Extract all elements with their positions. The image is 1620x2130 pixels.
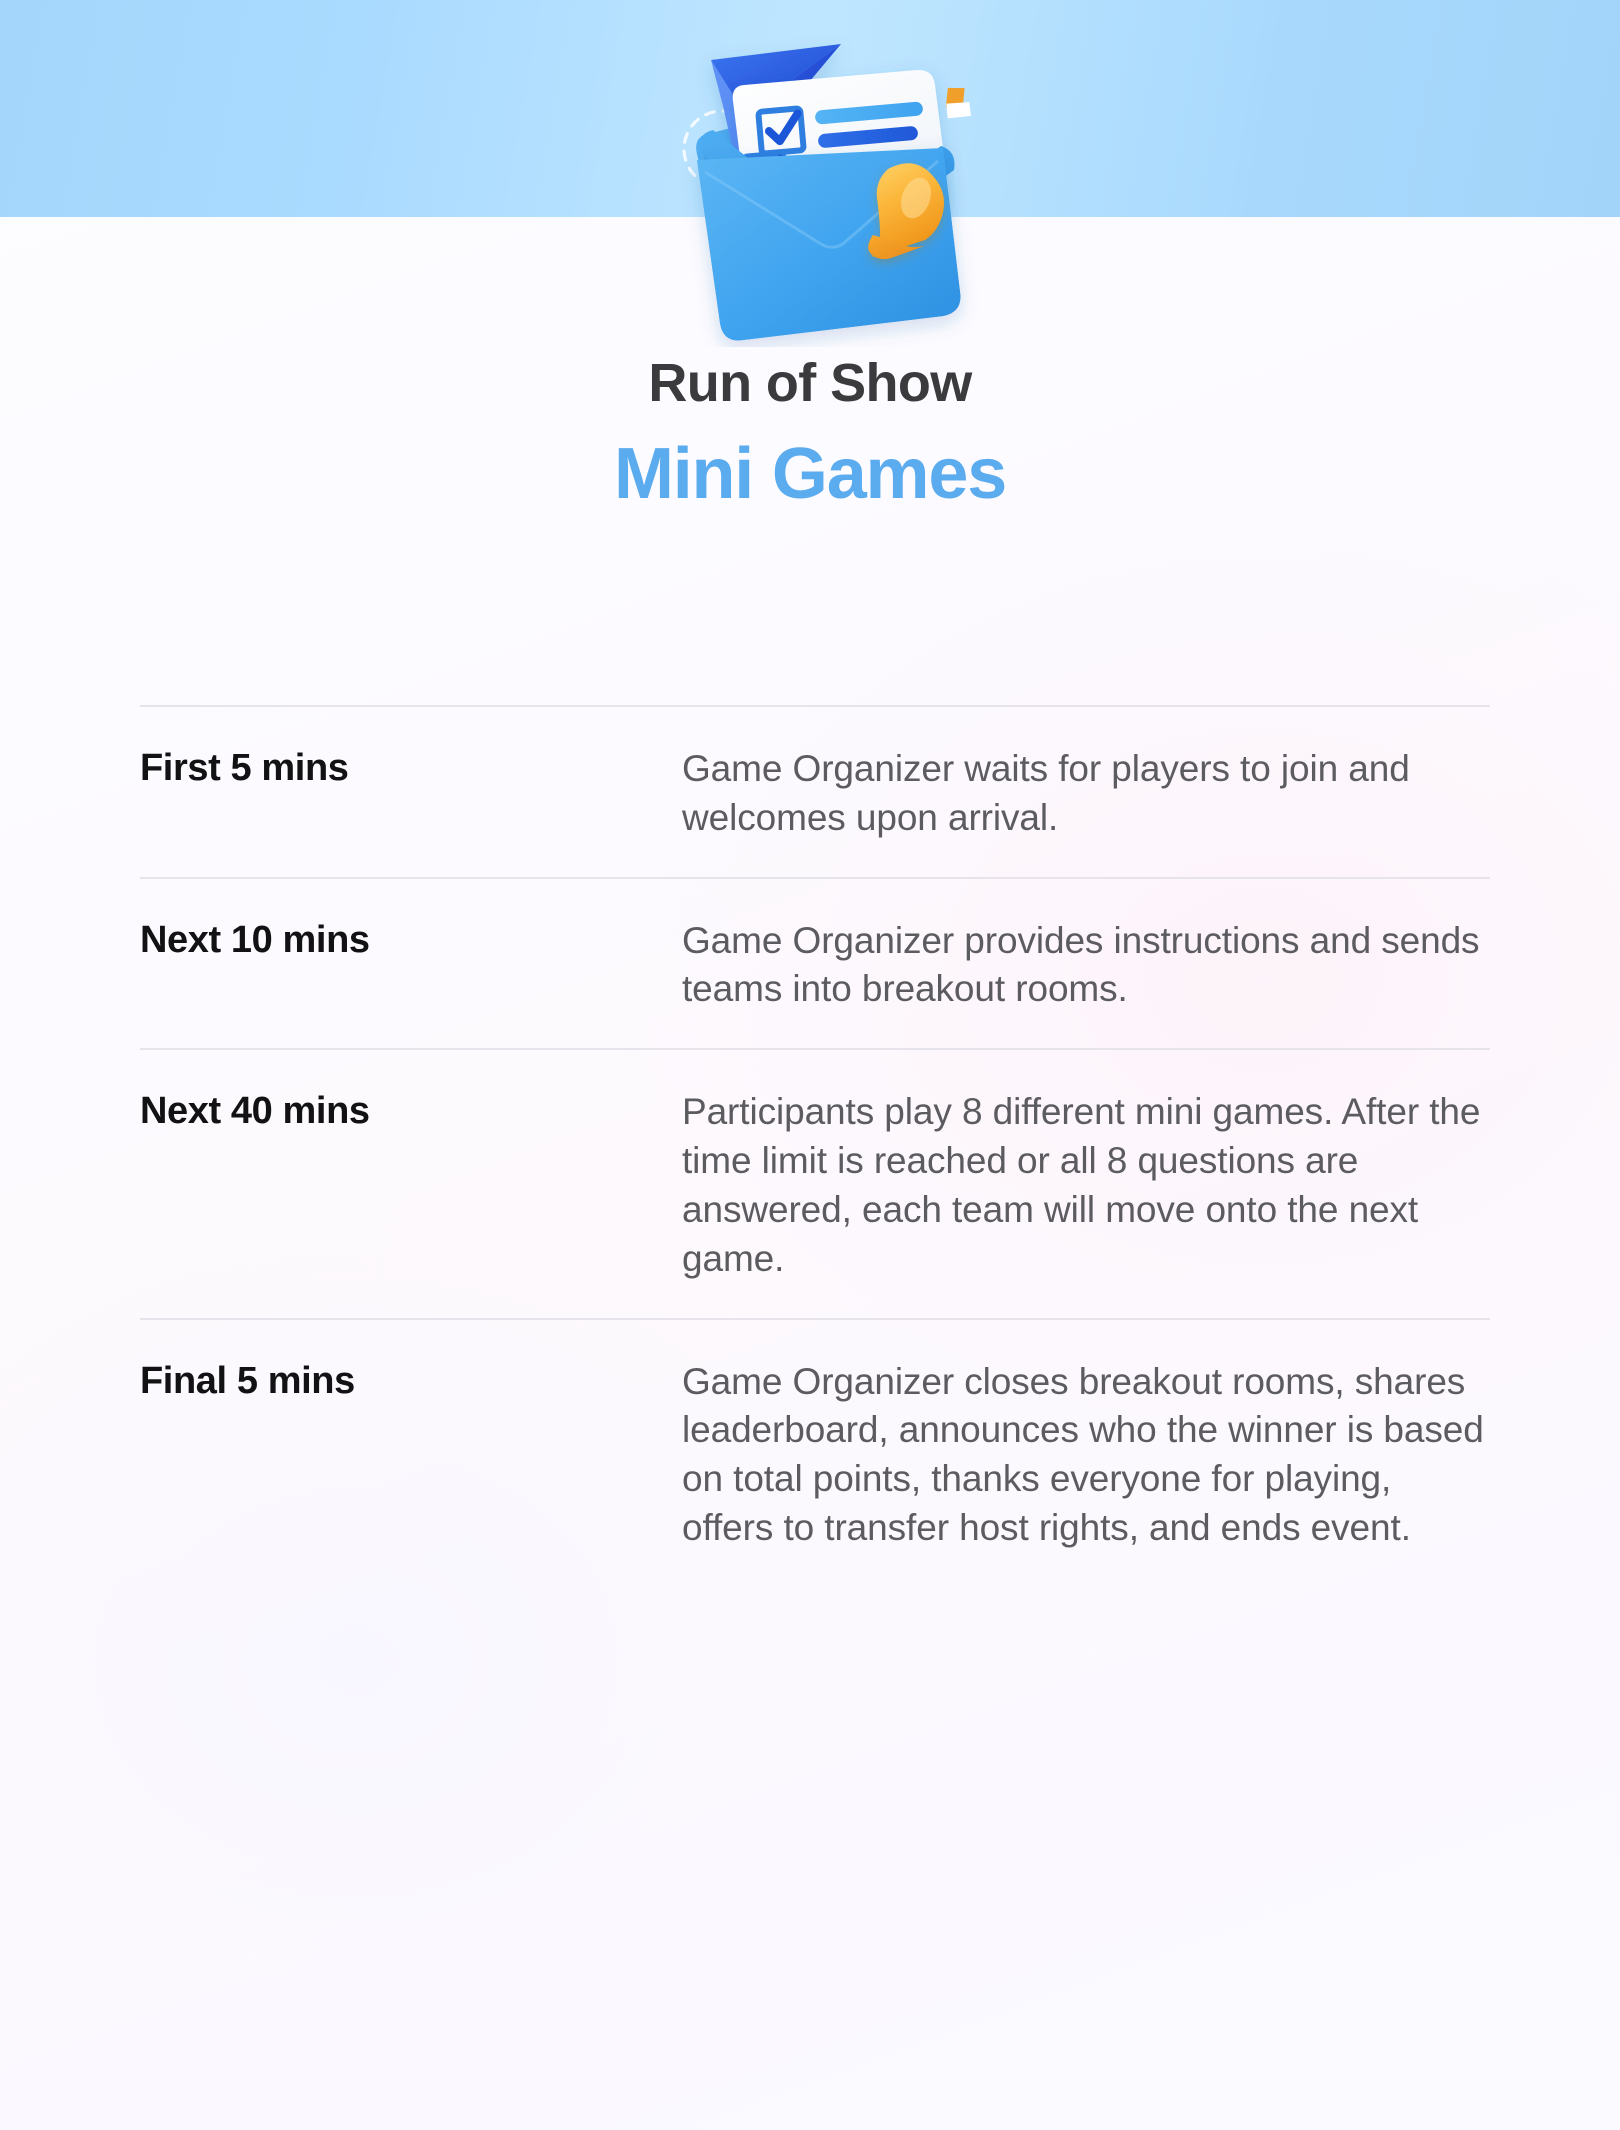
title-block: Run of Show Mini Games: [0, 355, 1620, 514]
schedule-row-label: Final 5 mins: [140, 1358, 682, 1553]
schedule-row-description: Game Organizer closes breakout rooms, sh…: [682, 1358, 1490, 1553]
schedule-row: Next 10 mins Game Organizer provides ins…: [140, 877, 1490, 1049]
schedule-row: First 5 mins Game Organizer waits for pl…: [140, 705, 1490, 877]
envelope-checklist-icon: [645, 22, 990, 347]
schedule-row-description: Participants play 8 different mini games…: [682, 1088, 1490, 1283]
confetti-pieces: [942, 83, 974, 124]
schedule-row-label: Next 10 mins: [140, 917, 682, 1015]
schedule-row: Final 5 mins Game Organizer closes break…: [140, 1318, 1490, 1587]
run-of-show-page: Run of Show Mini Games First 5 mins Game…: [0, 0, 1620, 2130]
schedule-row-label: First 5 mins: [140, 745, 682, 843]
schedule-row-description: Game Organizer waits for players to join…: [682, 745, 1490, 843]
schedule-row: Next 40 mins Participants play 8 differe…: [140, 1048, 1490, 1317]
schedule-row-description: Game Organizer provides instructions and…: [682, 917, 1490, 1015]
run-of-show-schedule: First 5 mins Game Organizer waits for pl…: [140, 705, 1490, 1587]
page-eyebrow-title: Run of Show: [0, 355, 1620, 412]
schedule-row-label: Next 40 mins: [140, 1088, 682, 1283]
page-title: Mini Games: [0, 434, 1620, 515]
